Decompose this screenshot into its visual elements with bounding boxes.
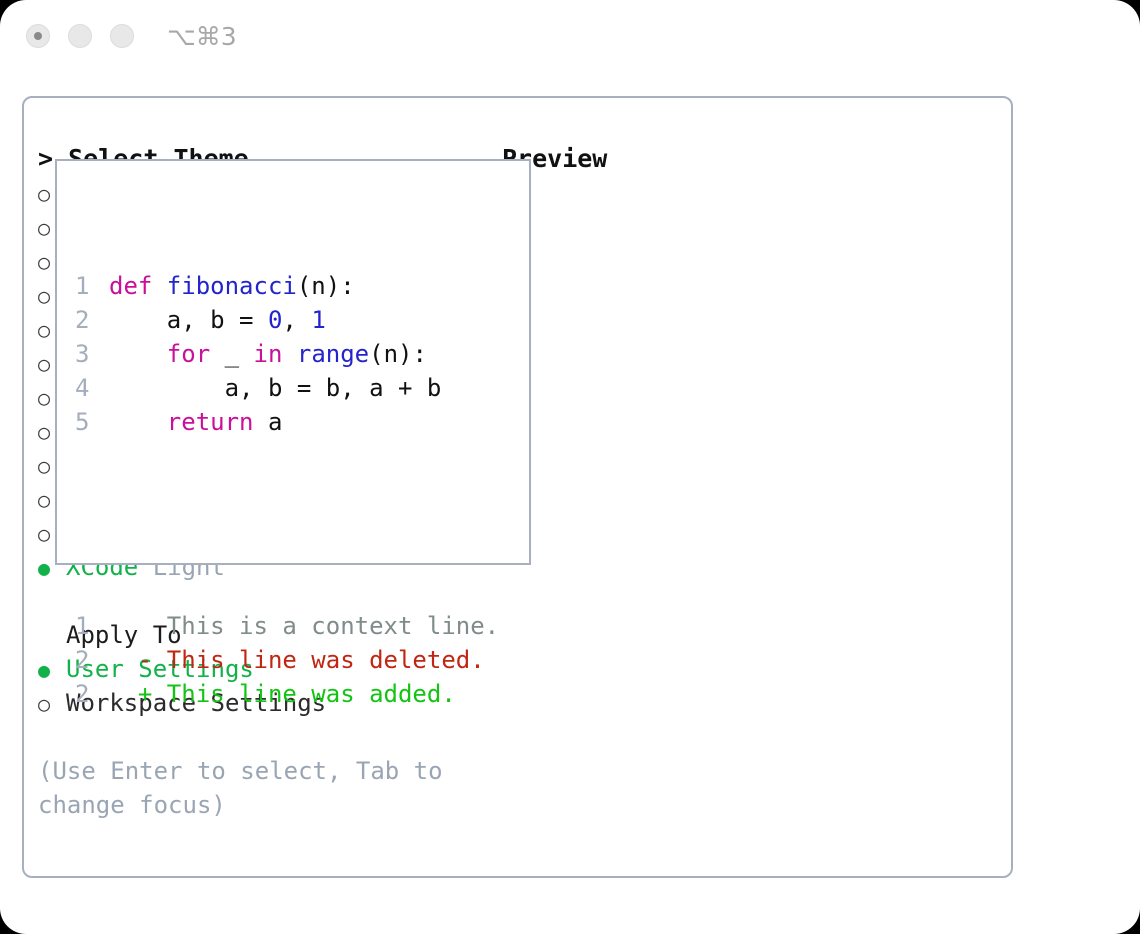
preview-box: 1def fibonacci(n):2 a, b = 0, 13 for _ i… bbox=[55, 159, 531, 565]
code-line: 3 for _ in range(n): bbox=[75, 337, 499, 371]
code-line: 2 a, b = 0, 1 bbox=[75, 303, 499, 337]
diff-line-add: 2 + This line was added. bbox=[75, 677, 499, 711]
code-preview: 1def fibonacci(n):2 a, b = 0, 13 for _ i… bbox=[75, 201, 499, 779]
code-token-kw: def bbox=[109, 272, 167, 300]
code-lines: 1def fibonacci(n):2 a, b = 0, 13 for _ i… bbox=[75, 269, 499, 439]
diff-line-number: 2 bbox=[75, 643, 109, 677]
code-text: a, b = b, a + b bbox=[109, 371, 441, 405]
line-number: 3 bbox=[75, 337, 109, 371]
diff-line-ctx: 1 This is a context line. bbox=[75, 609, 499, 643]
line-number: 4 bbox=[75, 371, 109, 405]
code-token-plain bbox=[282, 340, 296, 368]
code-line: 1def fibonacci(n): bbox=[75, 269, 499, 303]
diff-line-number: 2 bbox=[75, 677, 109, 711]
diff-line-text: - This line was deleted. bbox=[109, 643, 485, 677]
radio-selected-icon[interactable]: ● bbox=[38, 653, 66, 687]
preview-column: Preview bbox=[502, 142, 1002, 176]
code-token-plain: a bbox=[254, 408, 283, 436]
line-number: 2 bbox=[75, 303, 109, 337]
code-token-kw: in bbox=[254, 340, 283, 368]
code-token-kw: for bbox=[167, 340, 210, 368]
code-token-plain: (n): bbox=[297, 272, 355, 300]
code-token-plain: a, b = bbox=[109, 306, 268, 334]
code-text: a, b = 0, 1 bbox=[109, 303, 326, 337]
code-diff-separator bbox=[75, 507, 499, 541]
code-token-num: 1 bbox=[311, 306, 325, 334]
code-token-plain: _ bbox=[210, 340, 253, 368]
traffic-light-active-icon[interactable] bbox=[26, 24, 50, 48]
preview-heading: Preview bbox=[502, 142, 1002, 176]
diff-line-del: 2 - This line was deleted. bbox=[75, 643, 499, 677]
code-token-plain bbox=[109, 340, 167, 368]
code-token-num: 0 bbox=[268, 306, 282, 334]
code-line: 4 a, b = b, a + b bbox=[75, 371, 499, 405]
traffic-light-third-icon[interactable] bbox=[110, 24, 134, 48]
radio-unselected-icon[interactable]: ○ bbox=[38, 687, 66, 721]
app-window: ⌥⌘3 > Select Theme ○ANSI Dark○Atom One D… bbox=[0, 0, 1140, 934]
code-text: for _ in range(n): bbox=[109, 337, 427, 371]
apply-to-marker-placeholder: ○ bbox=[38, 618, 66, 652]
line-number: 5 bbox=[75, 405, 109, 439]
code-text: def fibonacci(n): bbox=[109, 269, 355, 303]
line-number: 1 bbox=[75, 269, 109, 303]
code-text: return a bbox=[109, 405, 282, 439]
code-token-plain: a, b = b, a + b bbox=[109, 374, 441, 402]
code-token-plain: (n): bbox=[369, 340, 427, 368]
code-line: 5 return a bbox=[75, 405, 499, 439]
diff-lines: 1 This is a context line.2 - This line w… bbox=[75, 609, 499, 711]
diff-line-text: + This line was added. bbox=[109, 677, 456, 711]
code-token-kw: return bbox=[167, 408, 254, 436]
code-token-plain bbox=[109, 408, 167, 436]
window-controls bbox=[26, 24, 134, 48]
panel-columns: > Select Theme ○ANSI Dark○Atom One Dark○… bbox=[24, 98, 1011, 876]
diff-line-number: 1 bbox=[75, 609, 109, 643]
code-token-fn: fibonacci bbox=[167, 272, 297, 300]
title-bar: ⌥⌘3 bbox=[0, 0, 1140, 78]
active-dot-inner-icon bbox=[34, 32, 42, 40]
traffic-light-second-icon[interactable] bbox=[68, 24, 92, 48]
code-token-plain: , bbox=[282, 306, 311, 334]
diff-line-text: This is a context line. bbox=[109, 609, 499, 643]
main-panel: > Select Theme ○ANSI Dark○Atom One Dark○… bbox=[22, 96, 1013, 878]
keyboard-shortcut-label: ⌥⌘3 bbox=[167, 22, 237, 51]
code-token-fn: range bbox=[297, 340, 369, 368]
